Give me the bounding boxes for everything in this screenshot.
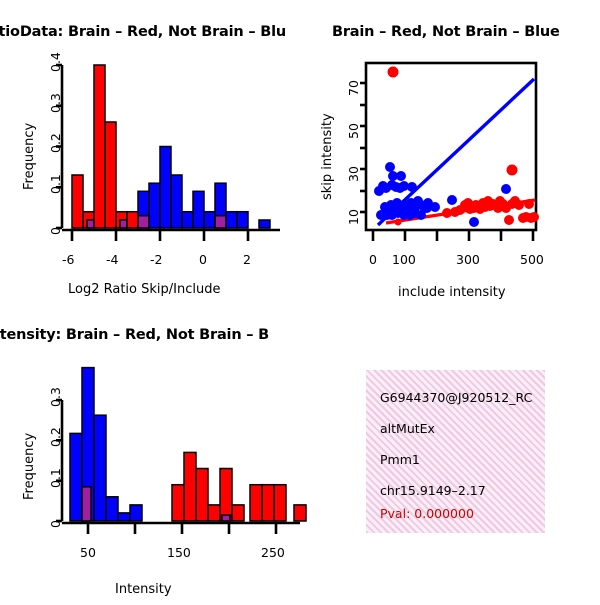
intensity-histogram-xaxis [62,523,300,534]
xtick: -4 [106,252,118,267]
ratio-histogram-title: RatioData: Brain – Red, Not Brain – Blu [0,24,286,40]
ratio-histogram-xaxis [62,230,280,241]
xtick: 0 [199,252,207,267]
xtick: 250 [261,545,285,560]
panel-intensity-scatter: Brain – Red, Not Brain – Blue skip inten… [300,0,600,310]
intensity-histogram-yaxis [56,400,62,521]
xtick: 0 [369,252,377,267]
xtick: -2 [150,252,162,267]
scatter-points-blue [374,162,511,227]
ytick: 0.3 [48,387,63,407]
event-type-text: altMutEx [380,421,435,436]
intensity-histogram-plot [0,355,300,605]
probe-id-text: G6944370@J920512_RC [380,390,532,405]
ytick: 10 [346,209,361,225]
xtick: 2 [243,252,251,267]
xtick: 100 [392,252,416,267]
pval-text: Pval: 0.000000 [380,506,474,521]
xtick: -6 [62,252,74,267]
ytick: 30 [346,166,361,182]
intensity-histogram-title: ne Itensity: Brain – Red, Not Brain – B [0,327,269,343]
gene-name-text: Pmm1 [380,452,420,467]
panel-ratio-histogram: RatioData: Brain – Red, Not Brain – Blu … [0,0,300,310]
pval-value: 0.000000 [414,506,474,521]
ytick: 0.4 [48,52,63,72]
xtick: 150 [167,545,191,560]
probe-info-box: G6944370@J920512_RC altMutEx Pmm1 chr15.… [366,370,545,533]
pval-label: Pval: [380,506,410,521]
ytick: 0.2 [48,427,63,447]
ratio-histogram-plot [0,45,300,310]
xtick: 500 [520,252,544,267]
intensity-histogram-bars [70,368,306,521]
panel-intensity-histogram: ne Itensity: Brain – Red, Not Brain – B … [0,310,300,600]
ytick: 50 [346,123,361,139]
xtick: 300 [456,252,480,267]
ytick: 0.1 [48,468,63,488]
ytick: 0.3 [48,93,63,113]
xtick: 50 [80,545,96,560]
ytick: 0 [48,520,63,528]
ytick: 0.1 [48,174,63,194]
ytick: 0 [48,227,63,235]
ytick: 70 [346,80,361,96]
ytick: 0.2 [48,133,63,153]
scatter-title: Brain – Red, Not Brain – Blue [332,24,560,40]
ratio-histogram-bars [72,65,270,228]
scatter-plot [300,45,600,305]
scatter-xticks-marks [373,230,533,241]
locus-text: chr15.9149–2.17 [380,483,486,498]
